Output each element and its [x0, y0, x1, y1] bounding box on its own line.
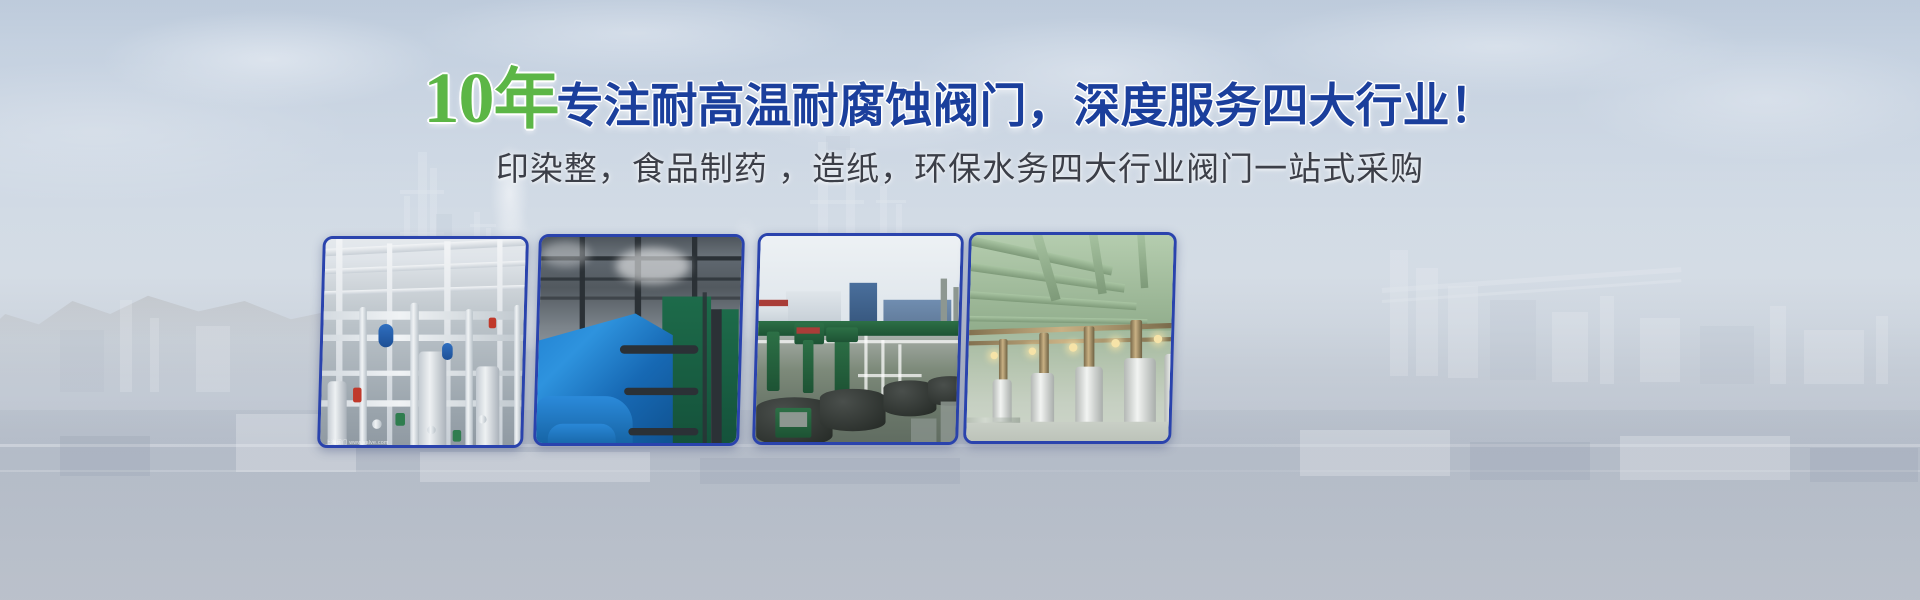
industry-photo-cards: 上海阀门 www.valve.com	[318, 232, 1208, 447]
industry-card-photo: 上海阀门 www.valve.com	[317, 236, 529, 448]
headline-lead: 专注耐高温耐腐蚀阀门，深度服务四大行业！	[557, 79, 1497, 132]
industry-card-photo	[963, 232, 1177, 444]
industry-card-water[interactable]	[752, 233, 964, 445]
headline-years-unit: 年	[494, 62, 559, 136]
industry-card-dyeing[interactable]	[533, 234, 745, 446]
headline: 10年专注耐高温耐腐蚀阀门，深度服务四大行业！	[0, 62, 1920, 134]
industry-card-paper[interactable]	[963, 232, 1177, 444]
headline-years-number: 10	[424, 58, 494, 138]
industry-card-food-pharma[interactable]: 上海阀门 www.valve.com	[317, 236, 529, 448]
industry-card-photo	[752, 233, 964, 445]
subheadline: 印染整，食品制药 ，造纸，环保水务四大行业阀门一站式采购	[0, 142, 1920, 190]
hero-banner: 10年专注耐高温耐腐蚀阀门，深度服务四大行业！ 印染整，食品制药 ，造纸，环保水…	[0, 0, 1920, 600]
headline-years: 10年	[424, 62, 559, 136]
industry-card-photo	[533, 234, 745, 446]
card-watermark: 上海阀门 www.valve.com	[325, 438, 388, 445]
